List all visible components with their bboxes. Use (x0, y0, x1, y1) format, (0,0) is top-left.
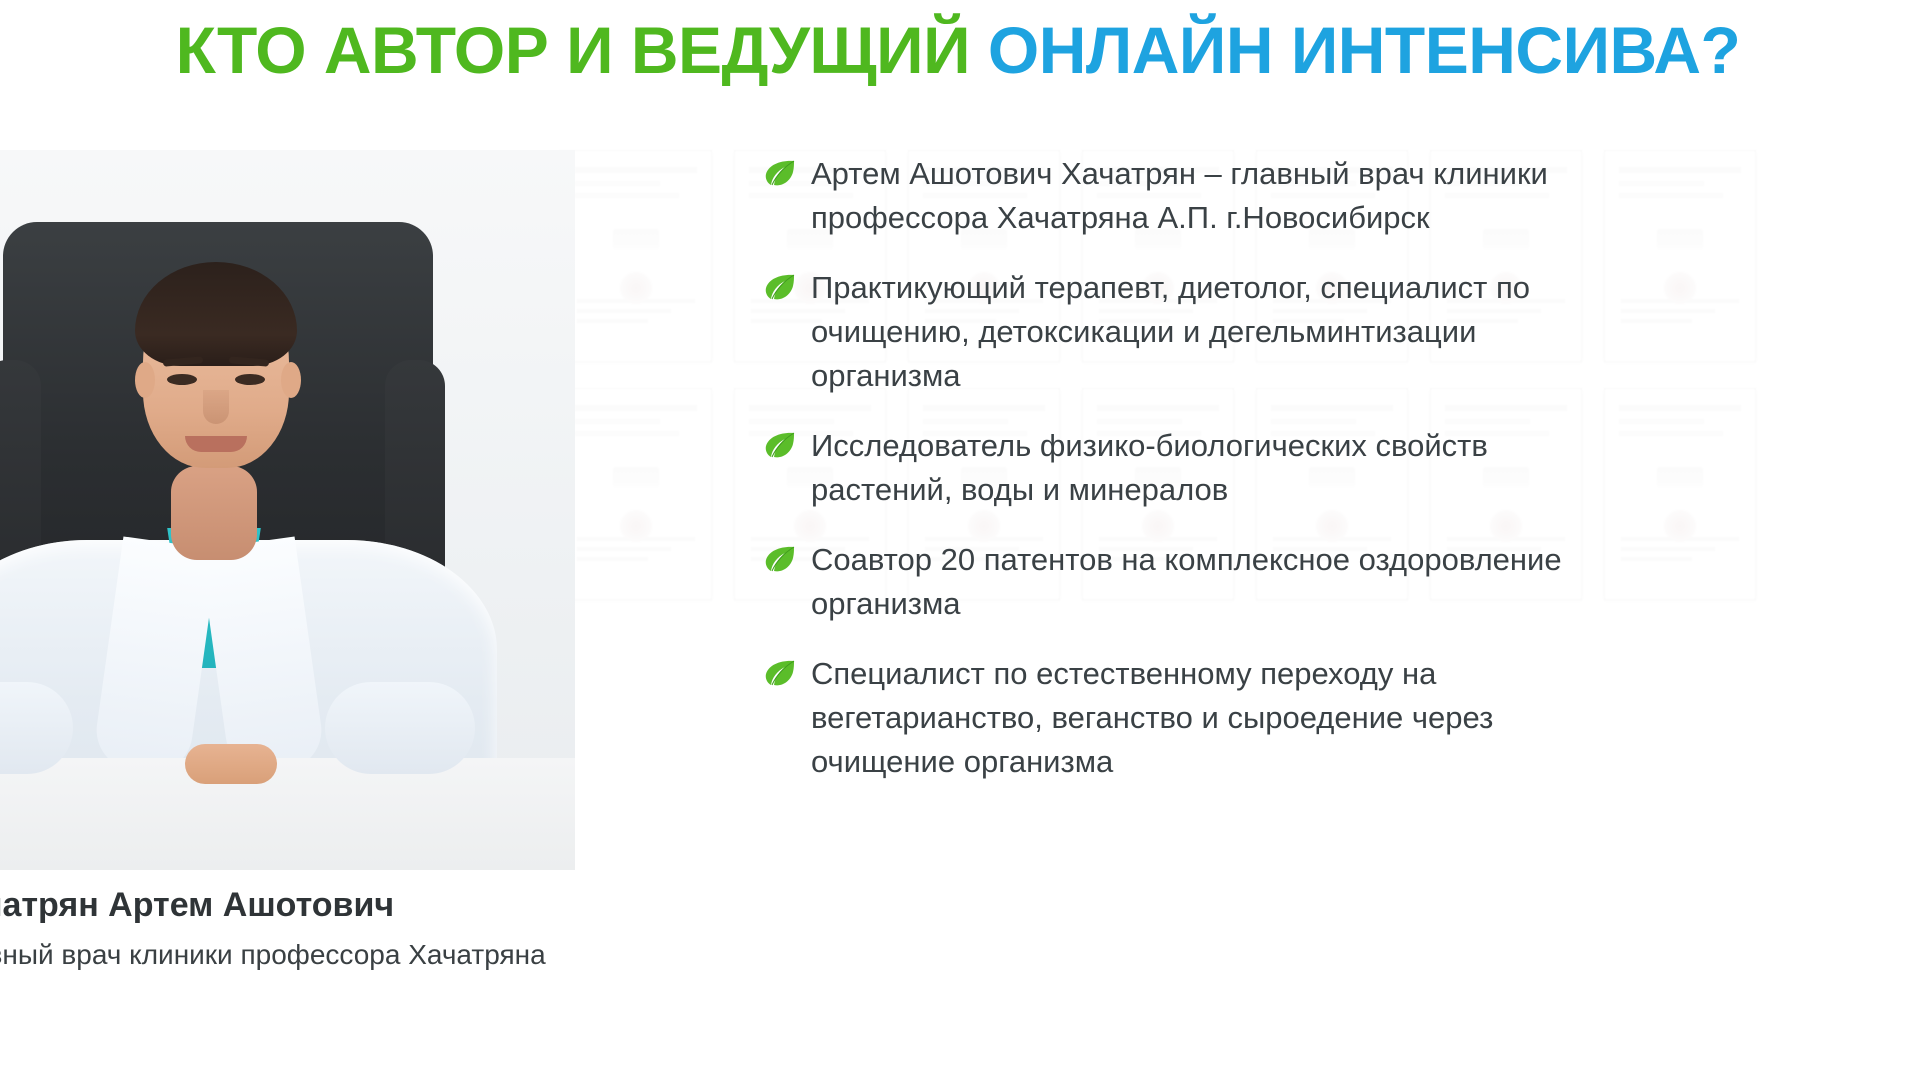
list-item-line: Специалист по естественному переходу на (811, 652, 1493, 696)
list-item: Практикующий терапевт, диетолог, специал… (765, 266, 1920, 398)
list-item-text: Артем Ашотович Хачатрян – главный врач к… (811, 152, 1548, 240)
list-item: Специалист по естественному переходу на … (765, 652, 1920, 784)
certificate-seal-icon (613, 467, 659, 487)
ear-left (135, 362, 155, 398)
green-leaf-icon (765, 546, 795, 572)
green-leaf-icon (765, 274, 795, 300)
list-item-line: вегетарианство, веганство и сыроедение ч… (811, 696, 1493, 740)
page-title: КТО АВТОР И ВЕДУЩИЙ ОНЛАЙН ИНТЕНСИВА? (0, 14, 1920, 87)
list-item-line: Соавтор 20 патентов на комплексное оздор… (811, 538, 1562, 582)
green-leaf-icon (765, 660, 795, 686)
list-item-line: очищение организма (811, 740, 1493, 784)
neck (171, 466, 257, 560)
list-item-line: Исследователь физико-биологических свойс… (811, 424, 1488, 468)
certificate-seal-icon (613, 229, 659, 249)
list-item-line: профессора Хачатряна А.П. г.Новосибирск (811, 196, 1548, 240)
list-item-line: организма (811, 582, 1562, 626)
green-leaf-icon (765, 160, 795, 186)
nose (203, 390, 229, 424)
doctor-photo (0, 150, 575, 870)
certificate-lines (577, 537, 695, 573)
certificate-lines (577, 299, 695, 335)
doctor-photo-image (0, 150, 575, 870)
certificate-column (560, 150, 712, 710)
photo-caption-name: Хачатрян Артем Ашотович (0, 884, 742, 927)
photo-caption: Хачатрян Артем Ашотович Главный врач кли… (0, 884, 742, 973)
list-item-text: Исследователь физико-биологических свойс… (811, 424, 1488, 512)
list-item: Артем Ашотович Хачатрян – главный врач к… (765, 152, 1920, 240)
eye-right (235, 374, 265, 385)
credentials-list: Артем Ашотович Хачатрян – главный врач к… (765, 152, 1920, 810)
certificate-thumbnail (560, 150, 712, 362)
list-item-line: растений, воды и минералов (811, 468, 1488, 512)
list-item-line: Практикующий терапевт, диетолог, специал… (811, 266, 1530, 310)
desk-surface (0, 758, 575, 870)
eye-left (167, 374, 197, 385)
mouth (185, 436, 247, 452)
page-title-blue-part: ОНЛАЙН ИНТЕНСИВА? (988, 13, 1740, 87)
ear-right (281, 362, 301, 398)
hands (185, 744, 277, 784)
green-leaf-icon (765, 432, 795, 458)
arm-right (325, 682, 475, 774)
list-item-text: Соавтор 20 патентов на комплексное оздор… (811, 538, 1562, 626)
list-item: Исследователь физико-биологических свойс… (765, 424, 1920, 512)
list-item-line: организма (811, 354, 1530, 398)
list-item-text: Специалист по естественному переходу на … (811, 652, 1493, 784)
page-title-green-part: КТО АВТОР И ВЕДУЩИЙ (176, 13, 970, 87)
photo-caption-role: Главный врач клиники профессора Хачатрян… (0, 937, 742, 973)
list-item-text: Практикующий терапевт, диетолог, специал… (811, 266, 1530, 398)
list-item-line: очищению, детоксикации и дегельминтизаци… (811, 310, 1530, 354)
certificate-thumbnail (560, 388, 712, 600)
list-item-line: Артем Ашотович Хачатрян – главный врач к… (811, 152, 1548, 196)
list-item: Соавтор 20 патентов на комплексное оздор… (765, 538, 1920, 626)
